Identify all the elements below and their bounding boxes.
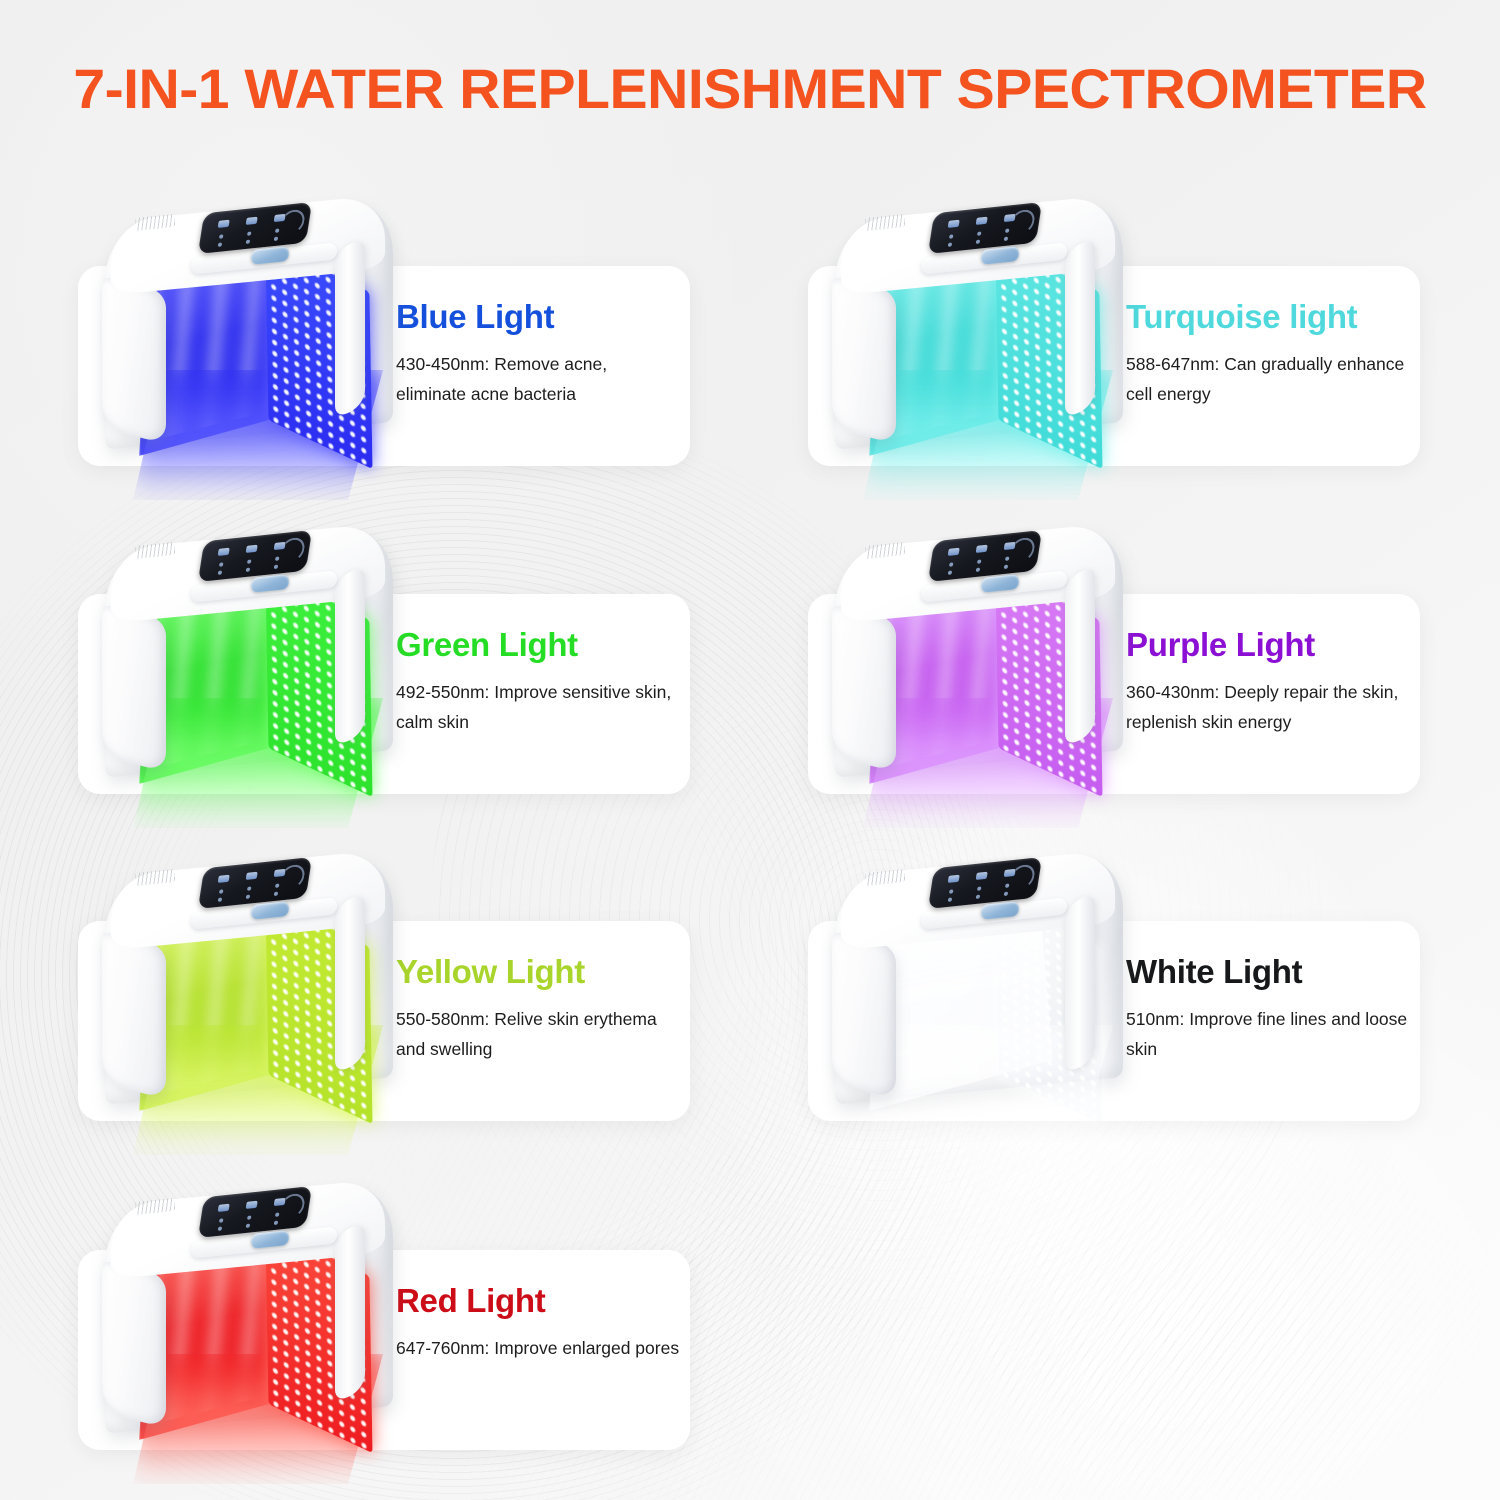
panel-indicator-dot (274, 892, 279, 896)
mode-description: 492-550nm: Improve sensitive skin, calm … (396, 677, 680, 738)
mode-item-turquoise: Turquoise light588-647nm: Can gradually … (808, 188, 1500, 488)
device-front-leg (102, 1260, 166, 1428)
infographic-page: 7-IN-1 WATER REPLENISHMENT SPECTROMETER … (0, 0, 1500, 1500)
device-front-leg (832, 931, 896, 1099)
panel-mode-icon (948, 220, 960, 228)
panel-indicator-dot (948, 242, 953, 246)
panel-indicator-dot (949, 234, 954, 238)
mode-description: 588-647nm: Can gradually enhance cell en… (1126, 349, 1410, 410)
device-front-leg (832, 604, 896, 772)
panel-indicator-dot (976, 239, 981, 243)
panel-mode-icon (218, 1204, 230, 1212)
panel-indicator-dot (275, 556, 280, 560)
led-therapy-device (83, 516, 413, 806)
panel-indicator-dot (977, 231, 982, 235)
device-right-rim (335, 236, 365, 420)
led-therapy-device (83, 188, 413, 478)
mode-item-white: White Light510nm: Improve fine lines and… (808, 843, 1500, 1143)
panel-mode-icon (976, 217, 988, 225)
panel-indicator-dot (977, 559, 982, 563)
mode-item-purple: Purple Light360-430nm: Deeply repair the… (808, 516, 1500, 816)
page-title: 7-IN-1 WATER REPLENISHMENT SPECTROMETER (0, 56, 1500, 121)
mode-description: 550-580nm: Relive skin erythema and swel… (396, 1004, 680, 1065)
panel-indicator-dot (275, 1212, 280, 1216)
device-right-rim (335, 891, 365, 1075)
panel-indicator-dot (1004, 237, 1009, 241)
wifi-arc-icon (1008, 537, 1036, 564)
led-therapy-device (83, 843, 413, 1133)
panel-indicator-dot (218, 570, 223, 574)
device-right-rim (1065, 891, 1095, 1075)
mode-title: Turquoise light (1126, 300, 1410, 335)
mode-title: Blue Light (396, 300, 680, 335)
panel-indicator-dot (218, 1226, 223, 1230)
mode-description: 647-760nm: Improve enlarged pores (396, 1333, 680, 1364)
panel-indicator-dot (274, 565, 279, 569)
device-right-rim (1065, 564, 1095, 748)
panel-indicator-dot (1004, 892, 1009, 896)
panel-mode-icon (948, 548, 960, 556)
panel-indicator-dot (218, 242, 223, 246)
panel-mode-icon (246, 217, 258, 225)
panel-mode-icon (976, 545, 988, 553)
panel-indicator-dot (219, 1218, 224, 1222)
device-front-leg (102, 931, 166, 1099)
wifi-arc-icon (278, 864, 306, 891)
mode-item-red: Red Light647-760nm: Improve enlarged por… (78, 1172, 778, 1472)
mode-title: Green Light (396, 628, 680, 663)
led-therapy-device (83, 1172, 413, 1462)
mode-item-green: Green Light492-550nm: Improve sensitive … (78, 516, 778, 816)
panel-indicator-dot (275, 883, 280, 887)
wifi-arc-icon (278, 209, 306, 236)
panel-indicator-dot (1004, 565, 1009, 569)
mode-description: 430-450nm: Remove acne, eliminate acne b… (396, 349, 680, 410)
panel-indicator-dot (274, 237, 279, 241)
mode-title: White Light (1126, 955, 1410, 990)
panel-mode-icon (246, 545, 258, 553)
panel-indicator-dot (246, 239, 251, 243)
panel-indicator-dot (219, 234, 224, 238)
panel-indicator-dot (948, 570, 953, 574)
panel-mode-icon (976, 872, 988, 880)
panel-indicator-dot (247, 1215, 252, 1219)
led-therapy-device (813, 516, 1143, 806)
mode-description: 360-430nm: Deeply repair the skin, reple… (1126, 677, 1410, 738)
panel-indicator-dot (275, 228, 280, 232)
panel-indicator-dot (219, 562, 224, 566)
panel-indicator-dot (247, 559, 252, 563)
panel-indicator-dot (246, 894, 251, 898)
panel-indicator-dot (219, 889, 224, 893)
panel-indicator-dot (977, 886, 982, 890)
device-right-rim (335, 564, 365, 748)
panel-mode-icon (218, 220, 230, 228)
panel-indicator-dot (218, 897, 223, 901)
panel-indicator-dot (976, 567, 981, 571)
panel-indicator-dot (949, 562, 954, 566)
mode-title: Purple Light (1126, 628, 1410, 663)
led-therapy-device (813, 843, 1143, 1133)
wifi-arc-icon (278, 537, 306, 564)
panel-indicator-dot (1005, 556, 1010, 560)
panel-indicator-dot (948, 897, 953, 901)
panel-indicator-dot (247, 231, 252, 235)
panel-indicator-dot (949, 889, 954, 893)
device-right-rim (335, 1220, 365, 1404)
panel-mode-icon (948, 875, 960, 883)
panel-mode-icon (218, 875, 230, 883)
device-front-leg (102, 276, 166, 444)
panel-indicator-dot (976, 894, 981, 898)
mode-item-blue: Blue Light430-450nm: Remove acne, elimin… (78, 188, 778, 488)
mode-item-yellow: Yellow Light550-580nm: Relive skin eryth… (78, 843, 778, 1143)
panel-indicator-dot (1005, 883, 1010, 887)
mode-description: 510nm: Improve fine lines and loose skin (1126, 1004, 1410, 1065)
device-front-leg (102, 604, 166, 772)
panel-indicator-dot (246, 567, 251, 571)
led-therapy-device (813, 188, 1143, 478)
device-front-leg (832, 276, 896, 444)
panel-indicator-dot (1005, 228, 1010, 232)
wifi-arc-icon (1008, 864, 1036, 891)
panel-indicator-dot (274, 1221, 279, 1225)
wifi-arc-icon (1008, 209, 1036, 236)
mode-title: Red Light (396, 1284, 680, 1319)
panel-mode-icon (246, 1201, 258, 1209)
panel-indicator-dot (247, 886, 252, 890)
device-right-rim (1065, 236, 1095, 420)
wifi-arc-icon (278, 1193, 306, 1220)
panel-mode-icon (246, 872, 258, 880)
mode-title: Yellow Light (396, 955, 680, 990)
panel-mode-icon (218, 548, 230, 556)
panel-indicator-dot (246, 1223, 251, 1227)
